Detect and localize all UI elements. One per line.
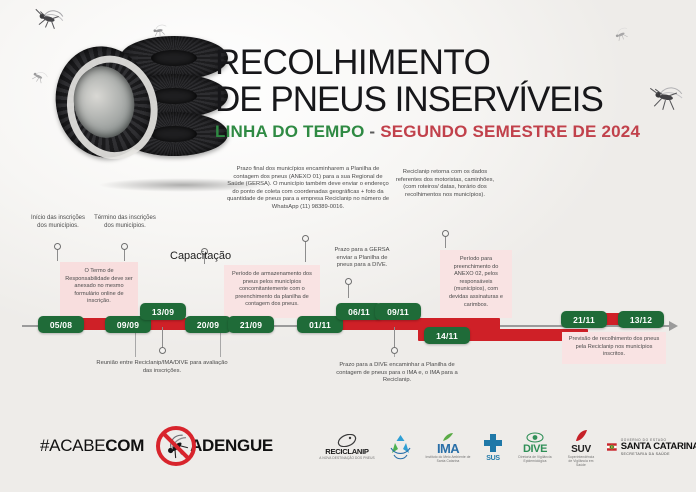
connector-dot [302,235,309,242]
note-termino-inscricoes: Término das inscrições dos municípios. [94,215,156,230]
pink-note-armazenamento: Período de armazenamento dos pneus pelos… [224,265,320,318]
label-capacitacao: Capacitação [170,250,231,262]
dive-logo-title: DIVE [523,443,547,455]
date-badge-13-09[interactable]: 13/09 [140,303,186,320]
note-prazo-final-municipios: Prazo final dos municípios encaminharem … [226,166,390,212]
partner-logos: RECICLANIP A NOVA DESTINAÇÃO DOS PNEUS I… [318,424,678,470]
santa-catarina-logo: GOVERNO DO ESTADO SANTA CATARINA SECRETA… [607,434,696,460]
connector-dot [345,278,352,285]
tires-illustration [48,28,228,168]
pink-note-anexo02: Período para preenchimento do ANEXO 02, … [440,250,512,318]
suv-logo: SUV Superintendência de Vigilância em Sa… [566,428,596,467]
dive-logo: DIVE Diretoria de Vigilância Epidemiológ… [515,432,555,463]
note-reciclanip-retorna: Reciclanip retorna com os dados referent… [393,169,497,199]
slogan-part-2: COM [105,436,144,455]
ima-logo: IMA Instituto do Meio Ambiente de Santa … [425,432,471,463]
pink-note-termo: O Termo de Responsabilidade deve ser ane… [60,262,138,318]
note-reuniao-avaliacao: Reunião entre Reciclanip/IMA/DIVE para a… [92,360,232,375]
reciclanip-logo-subtitle: A NOVA DESTINAÇÃO DOS PNEUS [318,456,376,460]
date-badge-21-09[interactable]: 21/09 [228,316,274,333]
date-badge-01-11[interactable]: 01/11 [297,316,343,333]
poster-canvas: RECOLHIMENTO DE PNEUS INSERVÍVEIS LINHA … [0,0,696,492]
dive-logo-subtitle: Diretoria de Vigilância Epidemiológica [515,455,555,463]
ima-logo-title: IMA [437,442,459,455]
subtitle-dash: - [365,122,381,141]
suv-logo-title: SUV [571,444,591,455]
sus-logo: SUS [482,433,504,462]
subtitle-red: SEGUNDO SEMESTRE DE 2024 [380,122,640,141]
connector-line [162,327,163,349]
mosquito-icon [29,2,68,34]
date-badge-05-08[interactable]: 05/08 [38,316,84,333]
connector-dot [121,243,128,250]
sc-logo-title: SANTA CATARINA [621,442,696,452]
title-line-1: RECOLHIMENTO [215,44,685,81]
date-badge-20-09[interactable]: 20/09 [185,316,231,333]
reciclanip-logo-title: RECICLANIP [325,447,368,456]
slogan-part-1: #ACABE [40,436,105,455]
note-inicio-inscricoes: Início das inscrições dos municípios. [28,215,88,230]
date-badge-14-11[interactable]: 14/11 [424,327,470,344]
subtitle-green: LINHA DO TEMPO [215,122,365,141]
note-prazo-gersa: Prazo para a GERSA enviar a Planilha de … [328,247,396,270]
sc-logo-subtitle: SECRETARIA DA SAÚDE [621,452,670,456]
ima-logo-subtitle: Instituto do Meio Ambiente de Santa Cata… [425,455,471,463]
date-badge-09-11[interactable]: 09/11 [375,303,421,320]
connector-dot [159,347,166,354]
no-mosquito-icon [154,424,198,468]
pink-note-previsao: Previsão de recolhimento dos pneus pela … [562,332,666,364]
subtitle: LINHA DO TEMPO - SEGUNDO SEMESTRE DE 202… [215,122,685,142]
sus-logo-title: SUS [486,455,500,462]
poster-heading: RECOLHIMENTO DE PNEUS INSERVÍVEIS LINHA … [215,44,685,142]
note-prazo-dive: Prazo para a DIVE encaminhar a Planilha … [326,362,468,385]
reciclanip-logo: RECICLANIP A NOVA DESTINAÇÃO DOS PNEUS [318,434,376,460]
mosquito-icon [609,23,634,45]
connector-dot [391,347,398,354]
connector-dot [54,243,61,250]
suv-logo-subtitle: Superintendência de Vigilância em Saúde [566,455,596,467]
slogan-part-3: ADENGUE [190,436,273,455]
date-badge-13-12[interactable]: 13/12 [618,311,664,328]
recycle-logo [387,432,414,462]
date-badge-21-11[interactable]: 21/11 [561,311,607,328]
connector-dot [442,230,449,237]
title-line-2: DE PNEUS INSERVÍVEIS [215,81,685,118]
connector-line [394,327,395,349]
